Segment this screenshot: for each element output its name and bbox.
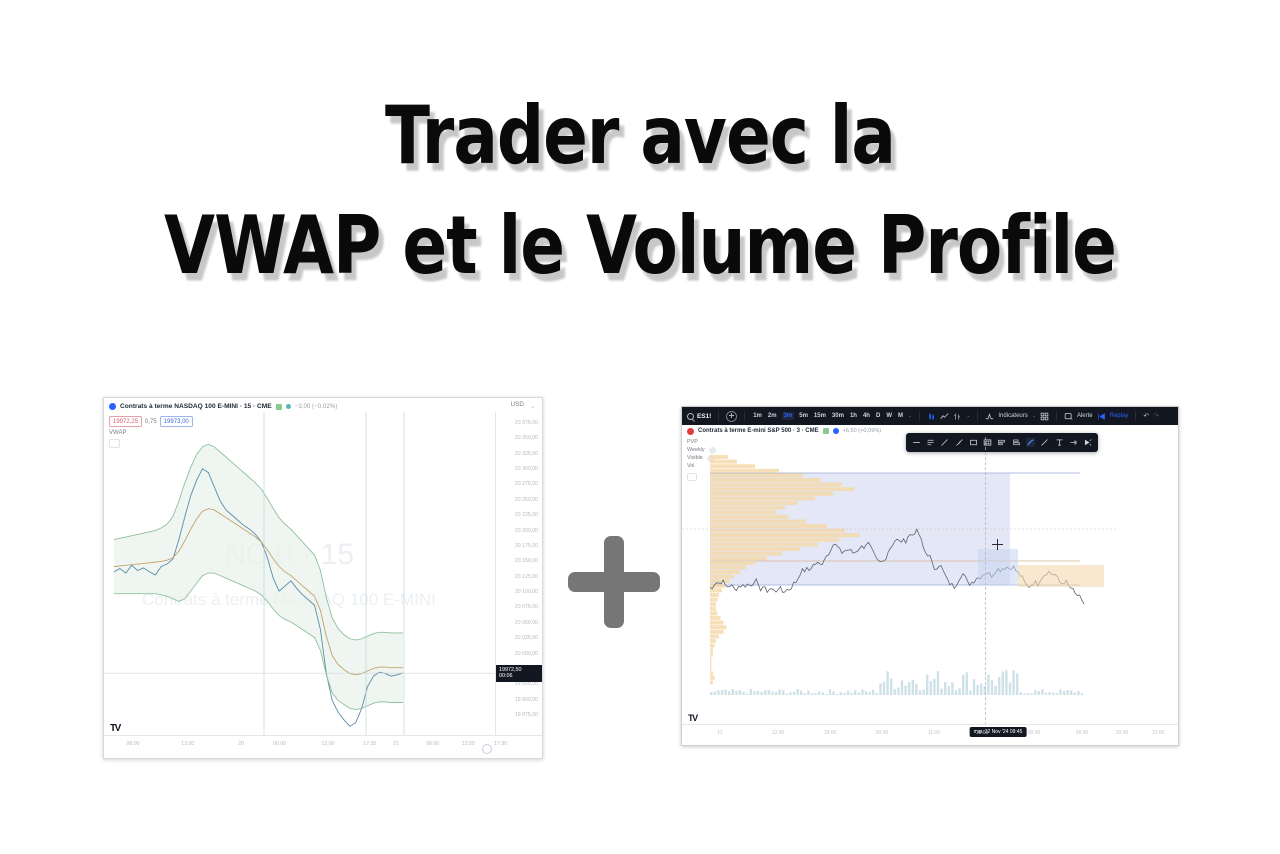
volume-bar: [735, 691, 737, 695]
volume-bar: [710, 692, 712, 695]
volume-bar: [742, 692, 744, 695]
volume-bar: [717, 690, 719, 695]
time-tick: 21: [393, 741, 399, 747]
volume-bar: [951, 682, 953, 695]
selection-box: [978, 549, 1018, 585]
price-tick: 20 000,00: [515, 651, 538, 657]
volume-profile-bar: [710, 460, 737, 464]
replay-icon[interactable]: [1097, 412, 1106, 421]
volume-profile-bar: [710, 501, 797, 505]
volume-bar: [811, 693, 813, 695]
volume-profile-bar: [710, 639, 716, 643]
price-tick: 20 375,00: [515, 420, 538, 426]
timeframe-4h[interactable]: 4h: [862, 413, 871, 419]
volume-profile-bar: [710, 588, 722, 592]
price-tick: 20 250,00: [515, 497, 538, 503]
volume-bar: [883, 682, 885, 695]
volume-bar: [933, 679, 935, 695]
toolbar-divider: [1135, 411, 1136, 421]
volume-profile-bar: [710, 483, 842, 487]
time-tick: 00:00: [876, 730, 889, 736]
price-tick: 20 125,00: [515, 574, 538, 580]
volume-bar: [786, 694, 788, 695]
tradingview-watermark-logo: TV: [688, 714, 697, 723]
chevron-down-icon[interactable]: ⌄: [908, 413, 912, 419]
price-tick: 20 175,00: [515, 543, 538, 549]
volume-profile-bar: [710, 662, 712, 666]
volume-bar: [1023, 694, 1025, 695]
volume-bar: [847, 691, 849, 695]
toolbar-divider: [919, 411, 920, 421]
volume-profile-bar: [710, 602, 716, 606]
exchange-badge-icon: [276, 404, 282, 410]
volume-bar: [861, 689, 863, 695]
left-chart-currency[interactable]: USD: [511, 401, 525, 408]
layout-grid-icon[interactable]: [1040, 412, 1049, 421]
toolbar-divider: [977, 411, 978, 421]
volume-bar: [829, 689, 831, 695]
volume-bar: [966, 672, 968, 695]
volume-bar: [771, 691, 773, 695]
volume-bar: [1063, 691, 1065, 695]
time-tick: 00:00: [1028, 730, 1041, 736]
volume-bar: [987, 675, 989, 695]
left-chart-price-axis[interactable]: 20 375,0020 350,0020 325,0020 300,0020 2…: [495, 412, 542, 736]
right-chart-toolbar: ES1! 1m 2m 3m 5m 15m 30m 1h 4h D W M ⌄ ⌄: [682, 407, 1178, 425]
volume-bar: [814, 693, 816, 695]
volume-bar: [1074, 693, 1076, 695]
volume-bar: [994, 686, 996, 695]
crosshair-icon: [992, 539, 1003, 550]
time-tick: 12:00: [181, 741, 194, 747]
volume-profile-chart: [682, 437, 1118, 725]
volume-bar: [865, 691, 867, 695]
volume-bar: [1077, 691, 1079, 695]
volume-profile-bar: [710, 680, 713, 684]
volume-profile-bar: [710, 653, 713, 657]
time-tick: 12:00: [772, 730, 785, 736]
volume-bar: [1052, 692, 1054, 695]
volume-profile-bar: [710, 473, 803, 477]
price-tick: 19 875,00: [515, 712, 538, 718]
toolbar-divider: [718, 411, 719, 421]
volume-bar: [789, 692, 791, 695]
price-tick: 20 025,00: [515, 635, 538, 641]
volume-profile-bar: [710, 524, 827, 528]
price-tick: 20 050,00: [515, 620, 538, 626]
volume-bar: [818, 691, 820, 695]
volume-bar: [976, 685, 978, 695]
volume-profile-bar: [710, 506, 785, 510]
price-tick: 20 200,00: [515, 528, 538, 534]
timeframe-d[interactable]: D: [875, 413, 881, 419]
volume-bar: [901, 680, 903, 695]
volume-profile-bar: [710, 667, 712, 671]
profile-extension-box: [1018, 565, 1104, 587]
candle-countdown: 00:06: [499, 673, 539, 680]
timeframe-w[interactable]: W: [885, 413, 893, 419]
volume-profile-bar: [710, 519, 806, 523]
right-chart-plot-area[interactable]: [682, 437, 1118, 725]
volume-bar: [1056, 693, 1058, 695]
volume-bar: [1027, 693, 1029, 695]
left-chart-plot-area[interactable]: NQ1! · 15 Contrats à terme NASDAQ 100 E-…: [104, 412, 496, 736]
right-chart-symbol-label[interactable]: Contrats à terme E-mini S&P 500 · 3 · CM…: [698, 428, 819, 434]
volume-bar: [890, 678, 892, 695]
timeframe-3m[interactable]: 3m: [782, 412, 795, 420]
left-chart-header: Contrats à terme NASDAQ 100 E-MINI · 15 …: [104, 398, 542, 413]
price-tick: 20 325,00: [515, 451, 538, 457]
volume-bar: [1030, 693, 1032, 695]
volume-bar: [760, 692, 762, 695]
volume-bar: [908, 682, 910, 695]
volume-profile-bar: [710, 570, 740, 574]
vwap-line-chart: [104, 412, 496, 736]
volume-bar: [854, 690, 856, 695]
volume-bar: [897, 687, 899, 695]
volume-bar: [1009, 683, 1011, 695]
plus-icon: +: [568, 536, 660, 628]
volume-bar: [793, 692, 795, 695]
volume-profile-bar: [710, 492, 833, 496]
volume-bar: [732, 689, 734, 695]
volume-profile-bar: [710, 648, 713, 652]
volume-bar: [980, 683, 982, 695]
volume-bar: [775, 692, 777, 695]
chevron-down-icon[interactable]: ⌄: [1032, 413, 1036, 419]
volume-profile-bar: [710, 538, 839, 542]
tradingview-logo-icon: [687, 428, 694, 435]
volume-bar: [973, 679, 975, 695]
exchange-badge-icon: [823, 428, 829, 434]
volume-bar: [1002, 671, 1004, 695]
timeframe-15m[interactable]: 15m: [813, 413, 827, 419]
volume-bar: [876, 693, 878, 695]
volume-bar: [1041, 689, 1043, 695]
volume-bar: [969, 690, 971, 695]
volume-bar: [858, 692, 860, 695]
time-tick: 12:00: [322, 741, 335, 747]
market-status-dot-icon: [833, 428, 839, 434]
time-tick: 06:00: [273, 741, 286, 747]
volume-profile-bar: [710, 575, 734, 579]
chevron-down-icon[interactable]: ⌄: [530, 403, 535, 410]
volume-profile-bar: [710, 644, 715, 648]
volume-profile-bar: [710, 607, 716, 611]
symbol-search[interactable]: ES1!: [687, 413, 711, 420]
volume-bar: [804, 693, 806, 695]
volume-bar: [724, 689, 726, 695]
tradingview-watermark-logo: TV: [110, 724, 126, 734]
right-chart-change: +6,50 (+0,09%): [843, 428, 882, 434]
volume-bar: [746, 694, 748, 695]
volume-bar: [1048, 692, 1050, 695]
left-chart-screenshot[interactable]: Contrats à terme NASDAQ 100 E-MINI · 15 …: [103, 397, 543, 759]
volume-bar: [782, 690, 784, 695]
price-tick: 20 350,00: [515, 435, 538, 441]
candlestick-icon[interactable]: [927, 412, 936, 421]
add-compare-icon[interactable]: [726, 411, 737, 422]
volume-bar: [764, 690, 766, 695]
toolbar-divider: [744, 411, 745, 421]
page-title: Trader avec la VWAP et le Volume Profile: [0, 96, 1280, 272]
volume-bar: [1020, 692, 1022, 695]
volume-profile-bar: [710, 671, 713, 675]
volume-bar: [778, 690, 780, 695]
volume-bar: [948, 686, 950, 695]
volume-bar: [1038, 691, 1040, 695]
price-tick: 20 100,00: [515, 589, 538, 595]
time-tick: 18:00: [976, 730, 989, 736]
volume-bar: [1005, 670, 1007, 695]
volume-bar: [753, 691, 755, 695]
left-chart-symbol-label[interactable]: Contrats à terme NASDAQ 100 E-MINI · 15 …: [120, 403, 272, 410]
volume-profile-bar: [710, 676, 715, 680]
time-tick: 20:00: [1116, 730, 1129, 736]
time-tick: 06:00: [426, 741, 439, 747]
volume-profile-bar: [710, 616, 721, 620]
time-tick: 11: [717, 730, 722, 736]
redo-icon[interactable]: ↷: [1153, 412, 1159, 420]
volume-profile-bar: [710, 552, 782, 556]
bar-chart-icon[interactable]: [953, 412, 962, 421]
volume-bar: [768, 690, 770, 695]
volume-bar: [721, 690, 723, 695]
time-tick: 06:00: [127, 741, 140, 747]
volume-profile-bar: [710, 611, 718, 615]
alert-label[interactable]: Alerte: [1077, 413, 1093, 419]
price-tick: 20 150,00: [515, 558, 538, 564]
volume-bar: [919, 690, 921, 695]
indicators-label[interactable]: Indicateurs: [998, 413, 1027, 419]
volume-bar: [926, 675, 928, 695]
time-tick: 17:30: [363, 741, 376, 747]
volume-profile-bar: [710, 464, 755, 468]
volume-bar: [930, 681, 932, 695]
volume-profile-bar: [710, 657, 712, 661]
volume-profile-bar: [710, 593, 719, 597]
volume-bar: [872, 690, 874, 695]
volume-profile-bar: [710, 621, 724, 625]
time-tick: 12:00: [462, 741, 475, 747]
volume-bar: [937, 671, 939, 695]
timeframe-5m[interactable]: 5m: [798, 413, 809, 419]
volume-profile-bar: [710, 565, 746, 569]
volume-profile-bar: [710, 625, 727, 629]
volume-bar: [1034, 690, 1036, 695]
volume-bar: [840, 692, 842, 695]
volume-bar: [807, 691, 809, 695]
crosshair-vertical-line: [985, 437, 986, 725]
volume-bar: [796, 689, 798, 695]
volume-bar: [912, 680, 914, 695]
volume-bar: [1070, 690, 1072, 695]
indicators-icon[interactable]: [985, 412, 994, 421]
time-tick: 06:00: [1076, 730, 1089, 736]
volume-profile-bar: [710, 630, 724, 634]
plus-icon-vertical-bar: [604, 536, 624, 628]
volume-bar: [894, 689, 896, 695]
search-symbol-label[interactable]: ES1!: [697, 413, 711, 420]
volume-bar: [958, 688, 960, 695]
zoom-reset-icon[interactable]: [482, 744, 492, 754]
volume-bar: [940, 689, 942, 695]
time-tick: 20: [238, 741, 244, 747]
volume-bar: [1059, 689, 1061, 695]
search-icon: [687, 413, 694, 420]
right-chart-time-axis[interactable]: mar. 12 Nov '24 09:45 1112:0018:0000:001…: [682, 724, 1178, 745]
volume-bar: [757, 691, 759, 695]
volume-profile-bar: [710, 478, 821, 482]
current-price-value: 19972,50: [499, 667, 539, 674]
chevron-down-icon[interactable]: ⌄: [966, 413, 970, 419]
volume-profile-bar: [710, 496, 815, 500]
line-chart-icon[interactable]: [940, 412, 949, 421]
volume-bar: [1081, 693, 1083, 695]
price-tick: 19 900,00: [515, 697, 538, 703]
time-tick: 18:00: [824, 730, 837, 736]
volume-bar: [886, 671, 888, 695]
volume-profile-bar: [710, 556, 767, 560]
right-chart-screenshot[interactable]: ES1! 1m 2m 3m 5m 15m 30m 1h 4h D W M ⌄ ⌄: [681, 406, 1179, 746]
price-tick: 20 275,00: [515, 481, 538, 487]
volume-bar: [1066, 690, 1068, 695]
volume-bar: [750, 689, 752, 695]
alert-clock-icon[interactable]: [1064, 412, 1073, 421]
replay-label[interactable]: Replay: [1110, 413, 1129, 419]
price-tick: 20 075,00: [515, 604, 538, 610]
volume-bar: [843, 693, 845, 695]
volume-profile-bar: [710, 487, 854, 491]
volume-profile-bar: [710, 584, 725, 588]
volume-bar: [868, 692, 870, 695]
volume-bar: [998, 677, 1000, 695]
volume-bar: [832, 691, 834, 695]
volume-bar: [879, 683, 881, 695]
volume-profile-bar: [710, 561, 755, 565]
volume-profile-bar: [710, 547, 800, 551]
timeframe-m[interactable]: M: [897, 413, 904, 419]
price-tick: 20 225,00: [515, 512, 538, 518]
vwap-band-fill: [114, 444, 403, 709]
volume-bar: [728, 691, 730, 695]
volume-bar: [822, 692, 824, 695]
timeframe-2m[interactable]: 2m: [767, 413, 778, 419]
volume-bar: [915, 684, 917, 695]
timeframe-30m[interactable]: 30m: [831, 413, 845, 419]
volume-bar: [1016, 673, 1018, 695]
volume-profile-bar: [710, 598, 718, 602]
time-tick: 17:30: [494, 741, 507, 747]
title-line-2: VWAP et le Volume Profile: [0, 206, 1280, 287]
tradingview-logo-icon: [109, 403, 116, 410]
volume-bar: [836, 694, 838, 695]
volume-profile-bar: [710, 634, 719, 638]
toolbar-divider: [1056, 411, 1057, 421]
volume-bar: [962, 675, 964, 695]
volume-bar: [922, 690, 924, 695]
market-status-dot-icon: [286, 404, 291, 409]
volume-bar: [991, 680, 993, 695]
volume-profile-bar: [710, 515, 788, 519]
volume-profile-bar: [710, 469, 779, 473]
volume-profile-bar: [710, 533, 860, 537]
undo-icon[interactable]: ↶: [1143, 412, 1149, 420]
volume-bar: [825, 694, 827, 695]
volume-bar: [739, 690, 741, 695]
current-price-badge: 19972,5000:06: [496, 665, 542, 682]
time-tick: 11:00: [928, 730, 940, 736]
volume-profile-bar: [710, 579, 730, 583]
volume-profile-bar: [710, 510, 776, 514]
volume-bar: [955, 690, 957, 695]
volume-bar: [1012, 670, 1014, 695]
volume-bar: [714, 692, 716, 695]
volume-bar: [944, 682, 946, 695]
volume-profile-bar: [710, 455, 728, 459]
left-chart-time-axis[interactable]: 06:0012:002006:0012:0017:302106:0012:001…: [104, 735, 542, 758]
volume-bar: [850, 693, 852, 695]
volume-profile-bar: [710, 542, 818, 546]
volume-bar: [904, 685, 906, 695]
price-tick: 20 300,00: [515, 466, 538, 472]
timeframe-1h[interactable]: 1h: [849, 413, 858, 419]
price-tick: 19 925,00: [515, 681, 538, 687]
title-line-1: Trader avec la: [0, 96, 1280, 177]
timeframe-1m[interactable]: 1m: [752, 413, 763, 419]
left-chart-change: −3,00 (−0,02%): [295, 403, 338, 410]
time-tick: 12:00: [1152, 730, 1165, 736]
volume-bar: [800, 691, 802, 695]
volume-bar: [1045, 693, 1047, 695]
